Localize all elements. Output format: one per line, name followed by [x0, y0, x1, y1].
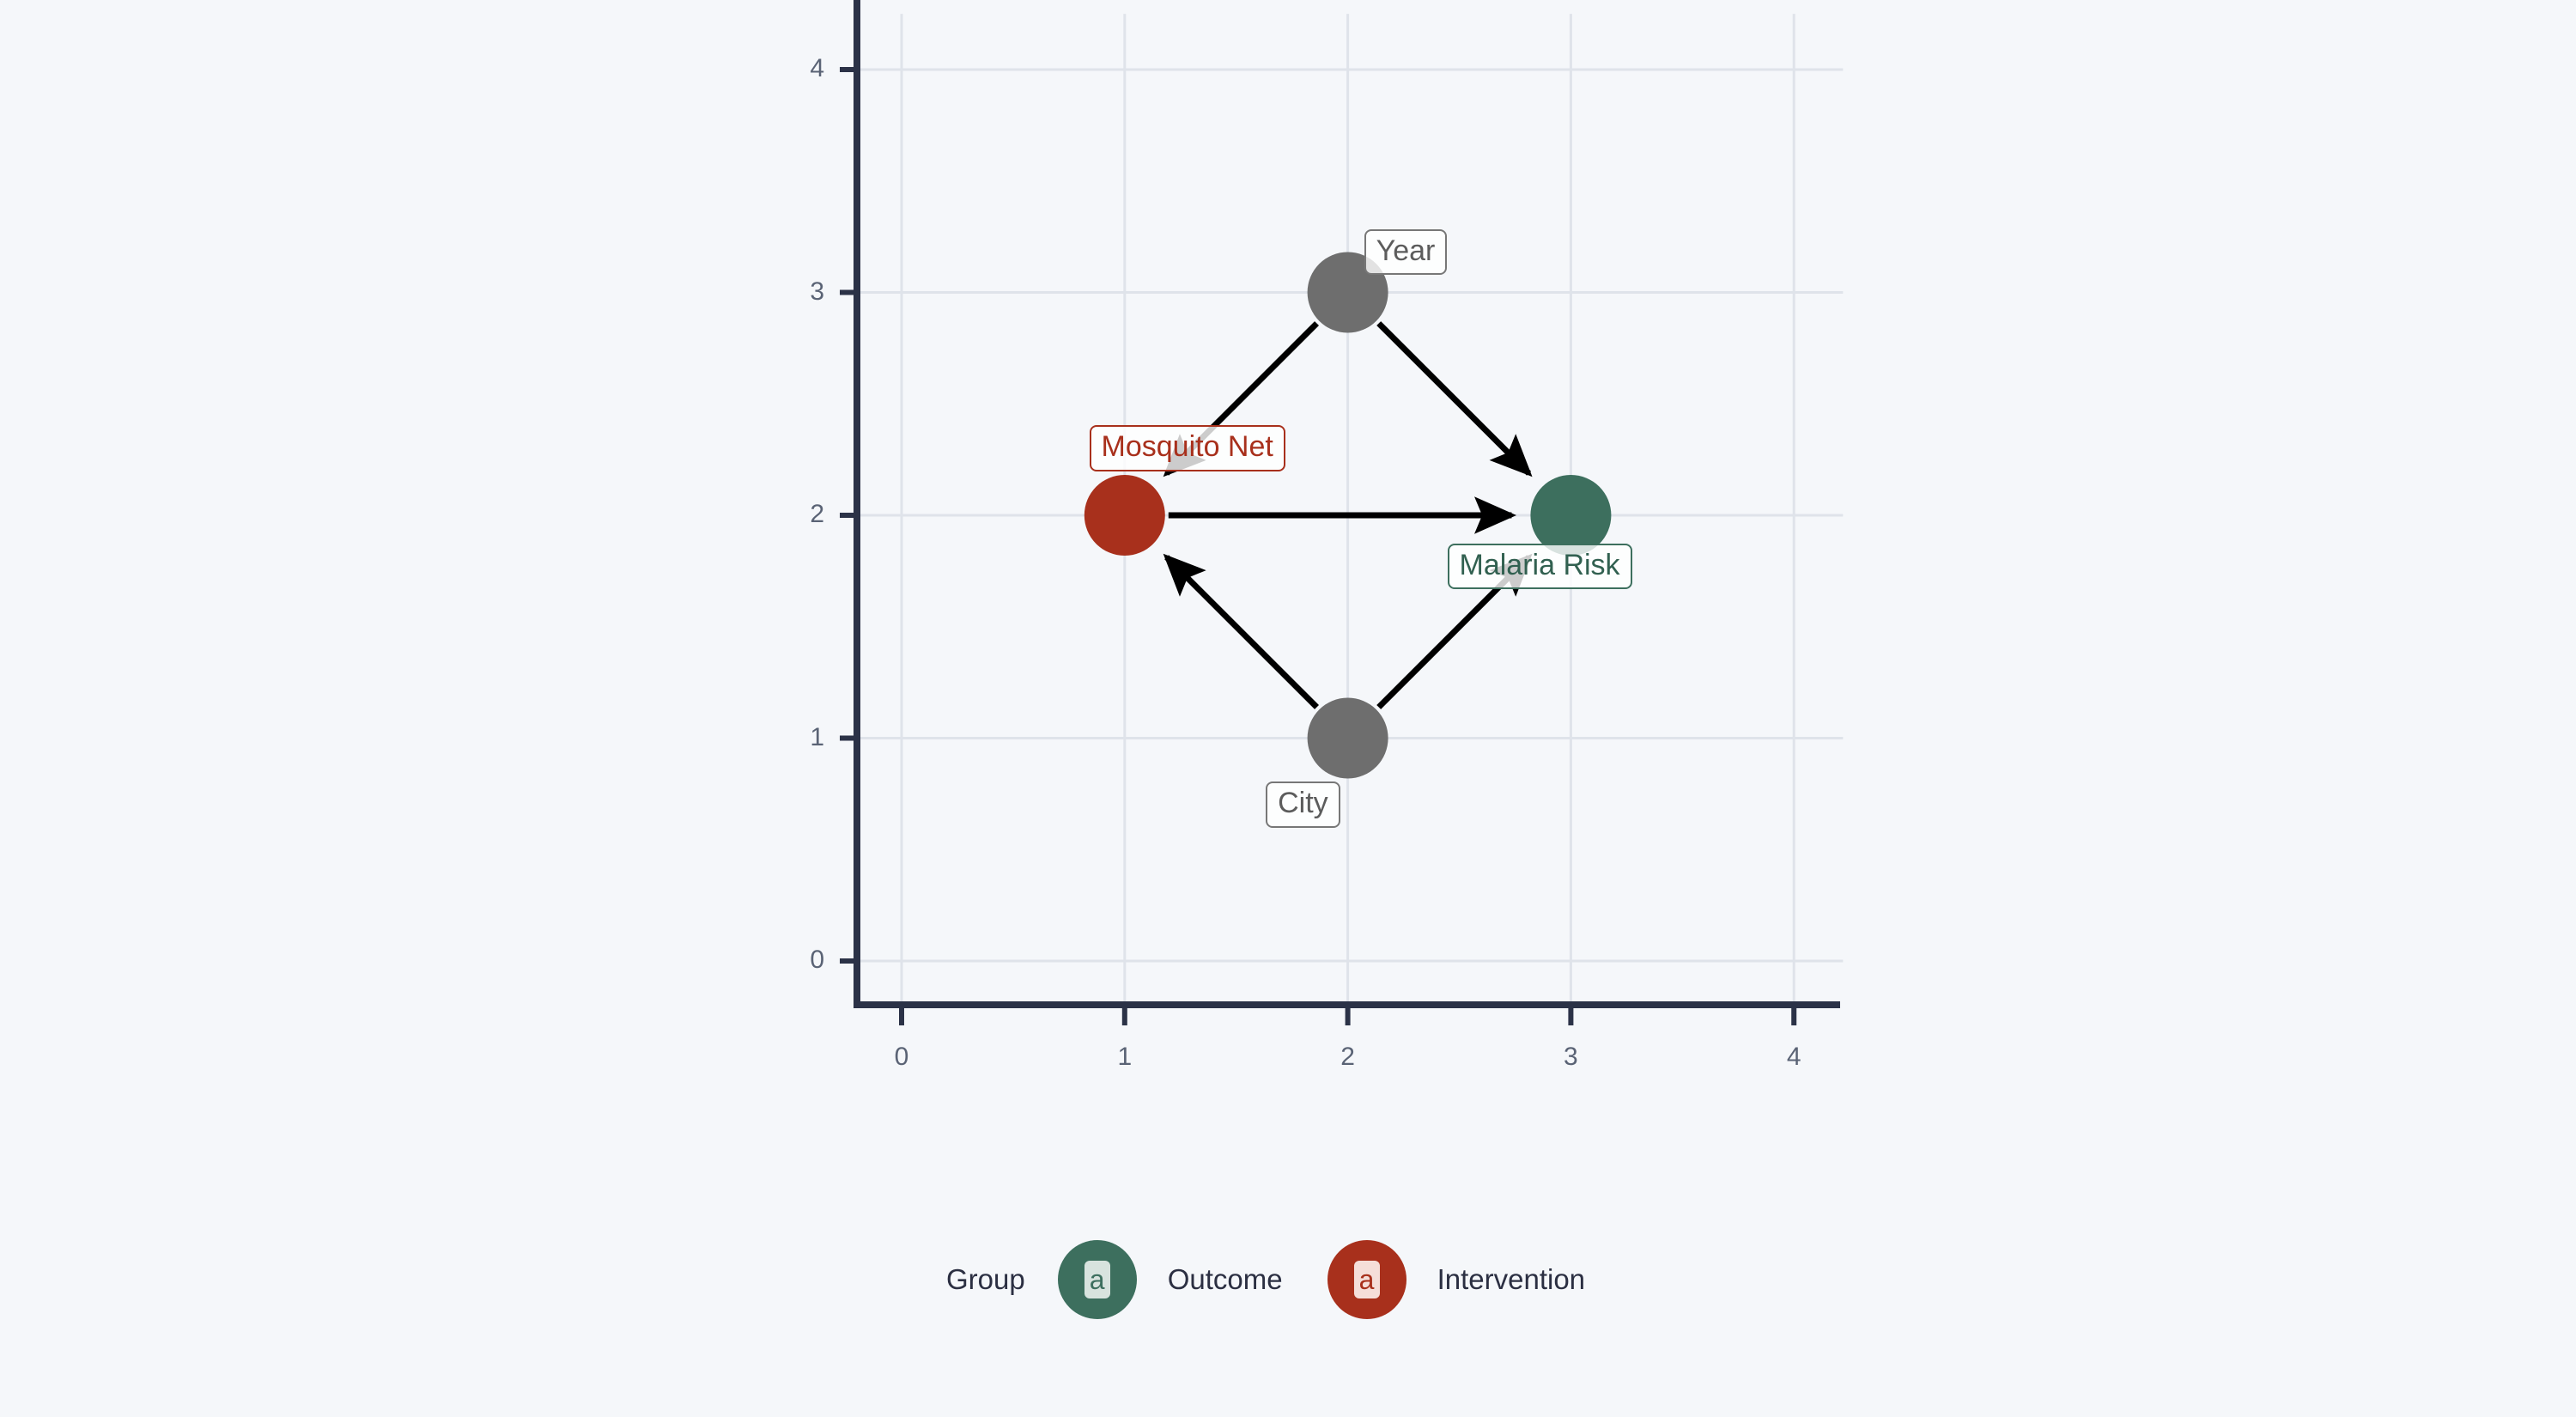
y-tick-label: 0	[780, 947, 824, 973]
x-tick-label: 1	[1091, 1044, 1159, 1070]
y-tick-label: 3	[780, 279, 824, 305]
y-tick-label: 1	[780, 725, 824, 751]
legend-title: Group	[946, 1263, 1025, 1296]
legend-key-circle: a	[1327, 1240, 1406, 1319]
dag-node-city[interactable]	[1308, 698, 1388, 779]
dag-edge-city-to-mosquito_net	[1167, 557, 1317, 708]
node-label-year: Year	[1364, 229, 1448, 276]
x-tick-label: 2	[1314, 1044, 1382, 1070]
plot-panel: 0123401234 YearMosquito NetMalaria RiskC…	[0, 0, 2576, 1116]
legend-key-glyph: a	[1084, 1261, 1110, 1298]
x-tick-label: 3	[1536, 1044, 1605, 1070]
x-tick-label: 0	[867, 1044, 936, 1070]
dag-plot-root: 0123401234 YearMosquito NetMalaria RiskC…	[0, 0, 2576, 1417]
legend-item-intervention[interactable]: aIntervention	[1327, 1240, 1630, 1319]
gridlines	[857, 14, 1843, 1006]
node-label-malaria_risk: Malaria Risk	[1448, 544, 1632, 590]
node-label-mosquito_net: Mosquito Net	[1090, 425, 1285, 471]
node-label-city: City	[1266, 781, 1340, 828]
legend-label: Outcome	[1168, 1263, 1283, 1296]
legend-key-glyph: a	[1354, 1261, 1380, 1298]
legend-items: aOutcomeaIntervention	[1058, 1240, 1630, 1319]
dag-edge-year-to-malaria_risk	[1379, 324, 1529, 474]
axis-ticks	[840, 70, 1794, 1025]
legend: Group aOutcomeaIntervention	[0, 1202, 2576, 1357]
legend-key-circle: a	[1058, 1240, 1137, 1319]
legend-item-outcome[interactable]: aOutcome	[1058, 1240, 1327, 1319]
legend-label: Intervention	[1437, 1263, 1585, 1296]
y-tick-label: 4	[780, 56, 824, 82]
dag-node-mosquito_net[interactable]	[1084, 475, 1165, 556]
y-tick-label: 2	[780, 502, 824, 527]
x-tick-label: 4	[1759, 1044, 1828, 1070]
